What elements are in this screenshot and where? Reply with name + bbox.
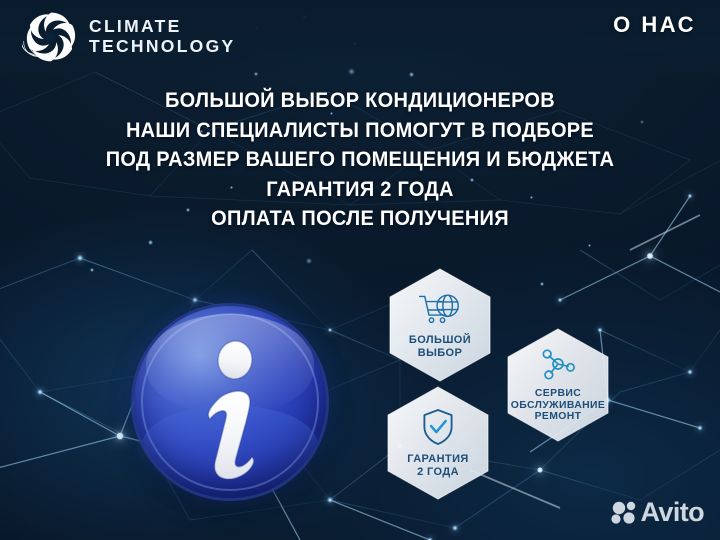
information-letter-i-icon (134, 306, 326, 498)
headline-line-5: ОПЛАТА ПОСЛЕ ПОЛУЧЕНИЯ (25, 204, 695, 234)
feature-label-line2: ОБСЛУЖИВАНИЕ (511, 400, 605, 411)
avito-wordmark: Avito (641, 499, 705, 526)
feature-label-line2: 2 ГОДА (417, 466, 459, 478)
network-background-graphic (0, 0, 720, 540)
avito-watermark: Avito (611, 499, 705, 526)
network-nodes-icon (538, 347, 578, 381)
brand-name-line2: TECHNOLOGY (89, 37, 235, 57)
feature-label-warranty: ГАРАНТИЯ 2 ГОДА (407, 453, 468, 478)
feature-hex-service[interactable]: СЕРВИС ОБСЛУЖИВАНИЕ РЕМОНТ (506, 328, 610, 442)
brand-logo-text: CLIMATE TECHNOLOGY (89, 17, 235, 56)
information-badge (134, 306, 326, 498)
headline-line-2: НАШИ СПЕЦИАЛИСТЫ ПОМОГУТ В ПОДБОРЕ (25, 116, 695, 146)
feature-hex-warranty[interactable]: ГАРАНТИЯ 2 ГОДА (386, 386, 490, 500)
feature-label-line1: БОЛЬШОЙ (409, 334, 471, 346)
feature-label-service: СЕРВИС ОБСЛУЖИВАНИЕ РЕМОНТ (511, 388, 605, 423)
shopping-cart-globe-icon (418, 293, 462, 327)
avito-dots-icon (611, 501, 637, 525)
swirl-fan-logo-icon (22, 8, 80, 66)
headline-line-3: ПОД РАЗМЕР ВАШЕГО ПОМЕЩЕНИЯ И БЮДЖЕТА (25, 145, 695, 175)
brand-logo[interactable]: CLIMATE TECHNOLOGY (22, 8, 235, 66)
headline-line-4: ГАРАНТИЯ 2 ГОДА (25, 175, 695, 205)
poster-canvas: CLIMATE TECHNOLOGY О НАС БОЛЬШОЙ ВЫБОР К… (0, 0, 720, 540)
shield-check-icon (421, 408, 455, 446)
feature-label-line1: ГАРАНТИЯ (407, 453, 468, 465)
headline-line-1: БОЛЬШОЙ ВЫБОР КОНДИЦИОНЕРОВ (25, 86, 695, 116)
feature-label-choice: БОЛЬШОЙ ВЫБОР (409, 334, 471, 359)
feature-hex-choice[interactable]: БОЛЬШОЙ ВЫБОР (388, 268, 492, 382)
feature-label-line1: СЕРВИС (535, 388, 581, 399)
feature-label-line3: РЕМОНТ (535, 411, 582, 422)
section-title: О НАС (613, 12, 696, 38)
feature-label-line2: ВЫБОР (418, 347, 463, 359)
headline-block: БОЛЬШОЙ ВЫБОР КОНДИЦИОНЕРОВ НАШИ СПЕЦИАЛ… (25, 86, 695, 234)
brand-name-line1: CLIMATE (89, 17, 235, 37)
